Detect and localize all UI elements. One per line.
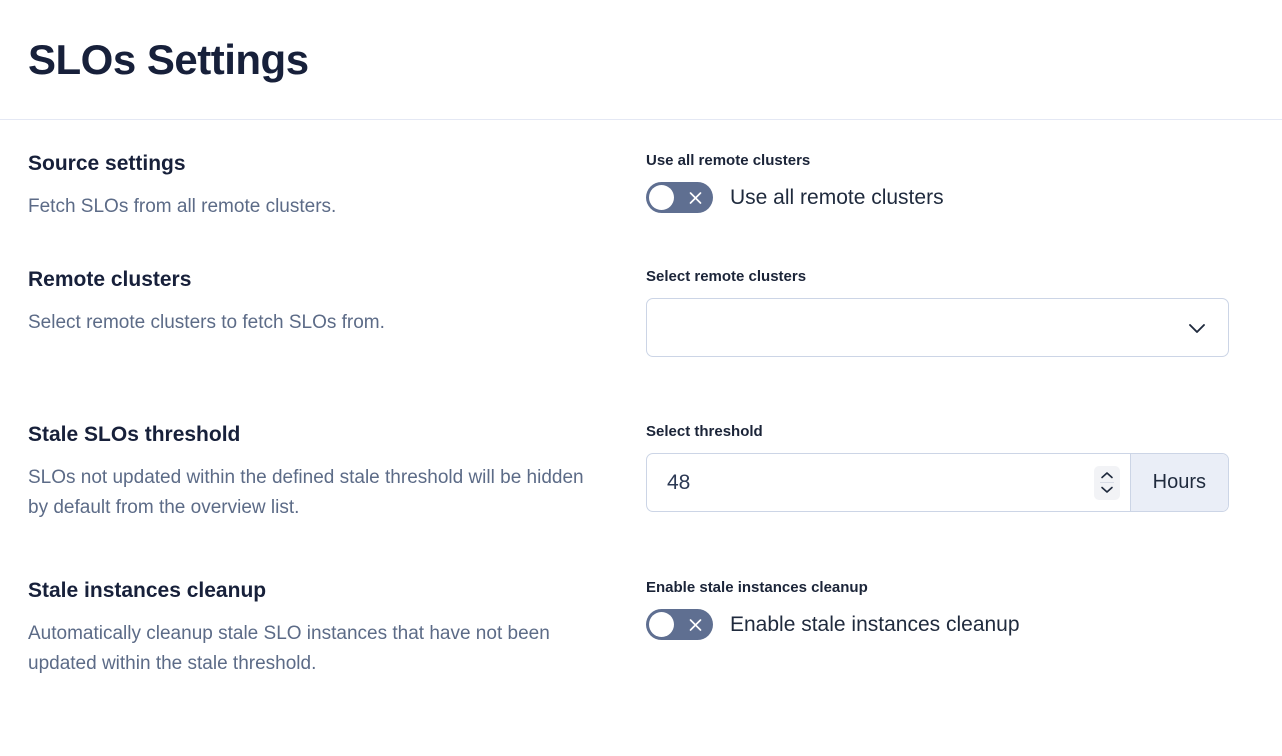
page-title: SLOs Settings	[28, 39, 309, 81]
setting-section-source-settings: Source settings Fetch SLOs from all remo…	[28, 152, 1254, 222]
section-heading: Source settings	[28, 152, 622, 176]
field-label-select-remote-clusters: Select remote clusters	[646, 268, 1254, 286]
toggle-enable-stale-instances-cleanup[interactable]	[646, 609, 713, 640]
settings-body: Source settings Fetch SLOs from all remo…	[0, 120, 1282, 680]
page-header: SLOs Settings	[0, 0, 1282, 120]
chevron-down-icon[interactable]	[1100, 483, 1114, 496]
chevron-up-icon[interactable]	[1100, 469, 1114, 482]
threshold-stepper[interactable]	[1094, 466, 1120, 500]
setting-section-remote-clusters: Remote clusters Select remote clusters t…	[28, 268, 1254, 357]
setting-section-stale-slos-threshold: Stale SLOs threshold SLOs not updated wi…	[28, 423, 1254, 523]
toggle-knob	[649, 185, 674, 210]
toggle-label-enable-stale-instances-cleanup[interactable]: Enable stale instances cleanup	[730, 612, 1020, 637]
section-description: SLOs not updated within the defined stal…	[28, 463, 608, 523]
toggle-use-all-remote-clusters[interactable]	[646, 182, 713, 213]
section-control-column: Enable stale instances cleanup Enable st…	[646, 579, 1254, 640]
field-label-enable-stale-instances-cleanup: Enable stale instances cleanup	[646, 579, 1254, 597]
toggle-label-use-all-remote-clusters[interactable]: Use all remote clusters	[730, 185, 944, 210]
section-description: Select remote clusters to fetch SLOs fro…	[28, 308, 608, 338]
section-spacer	[28, 357, 1254, 423]
x-icon	[688, 190, 703, 205]
threshold-input[interactable]	[667, 471, 1094, 495]
section-text-column: Stale instances cleanup Automatically cl…	[28, 579, 646, 679]
x-icon	[688, 617, 703, 632]
section-text-column: Stale SLOs threshold SLOs not updated wi…	[28, 423, 646, 523]
setting-section-stale-instances-cleanup: Stale instances cleanup Automatically cl…	[28, 579, 1254, 679]
section-control-column: Select remote clusters	[646, 268, 1254, 357]
section-heading: Stale SLOs threshold	[28, 423, 622, 447]
threshold-input-group: Hours	[646, 453, 1229, 512]
field-label-use-all-remote-clusters: Use all remote clusters	[646, 152, 1254, 170]
threshold-input-wrap	[647, 454, 1130, 511]
chevron-down-icon[interactable]	[1184, 315, 1210, 341]
toggle-knob	[649, 612, 674, 637]
threshold-unit-addon: Hours	[1130, 454, 1228, 511]
toggle-field-use-all-remote-clusters: Use all remote clusters	[646, 182, 1254, 213]
section-heading: Stale instances cleanup	[28, 579, 622, 603]
section-text-column: Remote clusters Select remote clusters t…	[28, 268, 646, 338]
field-label-select-threshold: Select threshold	[646, 423, 1254, 441]
section-spacer	[28, 222, 1254, 268]
section-text-column: Source settings Fetch SLOs from all remo…	[28, 152, 646, 222]
section-control-column: Select threshold	[646, 423, 1254, 512]
select-remote-clusters[interactable]	[646, 298, 1229, 357]
toggle-field-enable-stale-instances-cleanup: Enable stale instances cleanup	[646, 609, 1254, 640]
section-description: Fetch SLOs from all remote clusters.	[28, 192, 608, 222]
section-control-column: Use all remote clusters Use all remote c…	[646, 152, 1254, 213]
section-heading: Remote clusters	[28, 268, 622, 292]
section-spacer	[28, 523, 1254, 579]
section-description: Automatically cleanup stale SLO instance…	[28, 619, 608, 679]
